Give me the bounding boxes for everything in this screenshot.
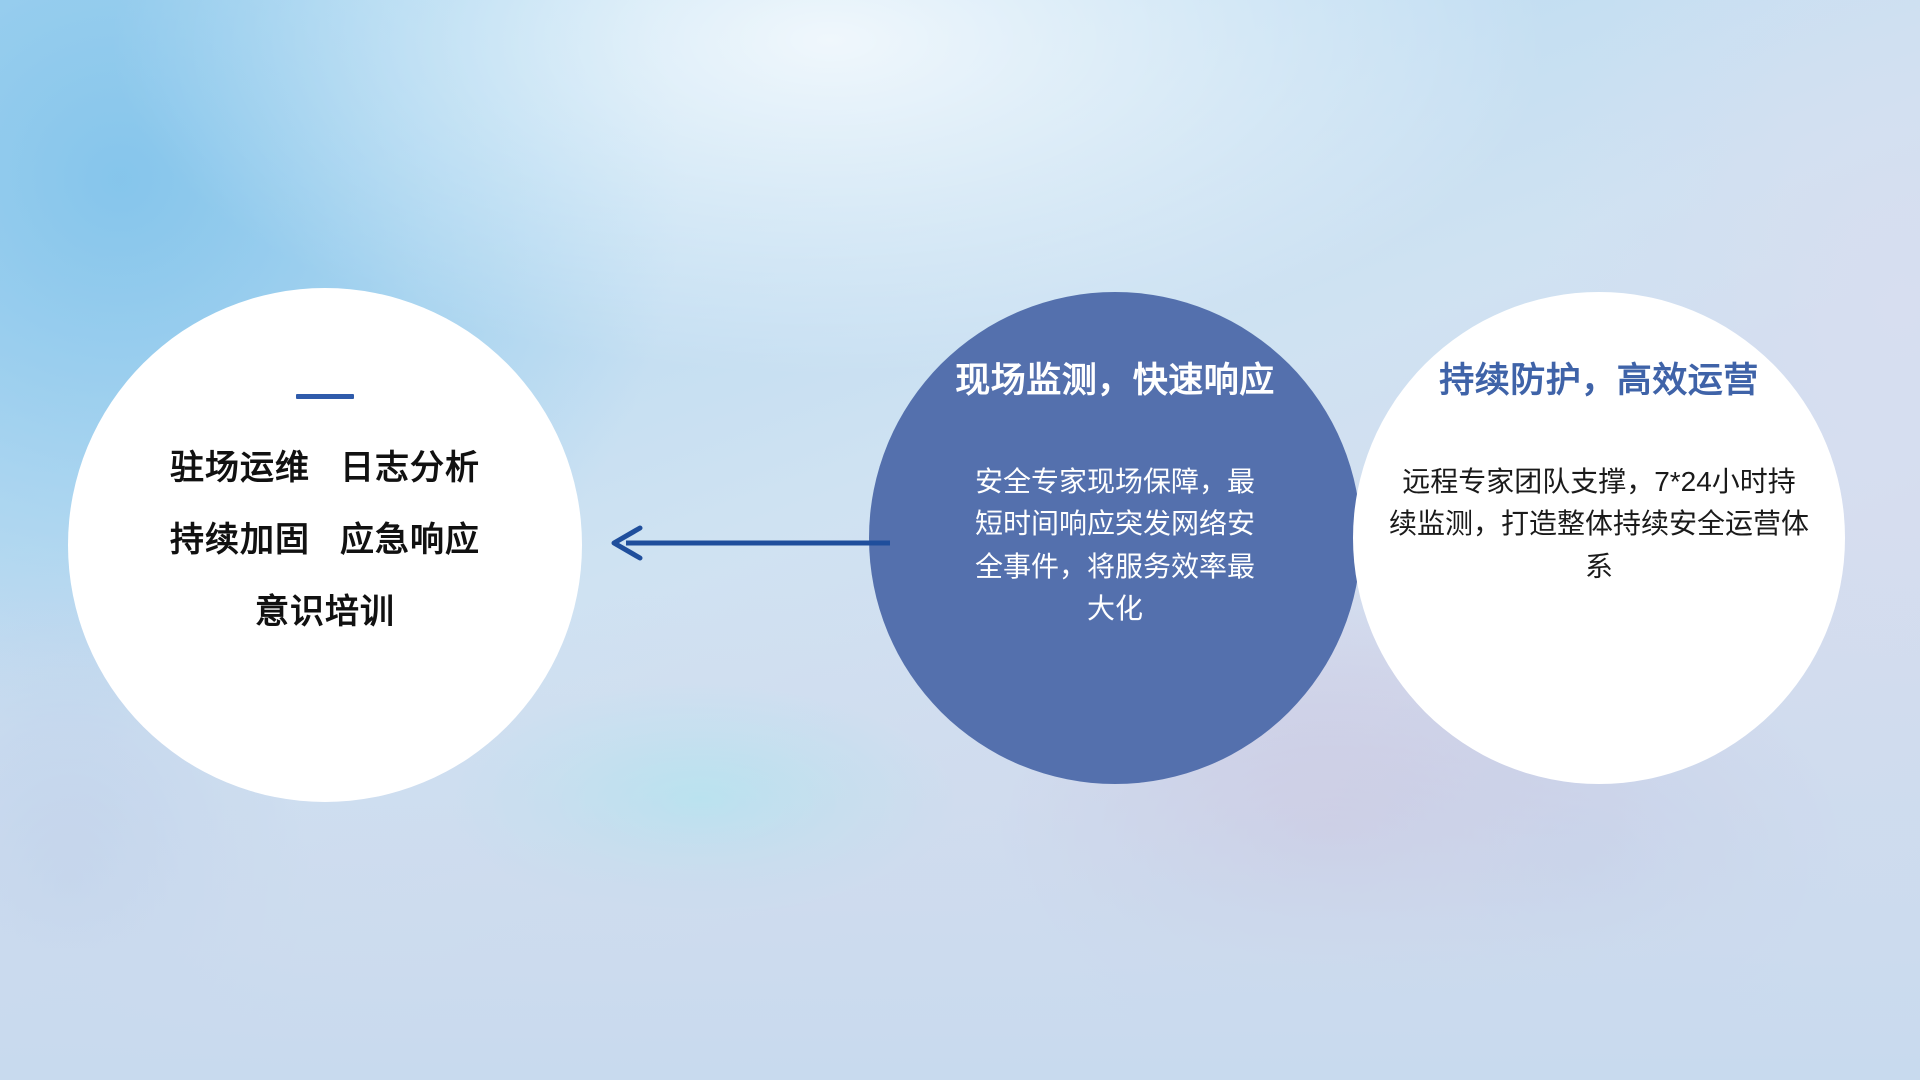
left-circle-content: 驻场运维日志分析 持续加固应急响应 意识培训 bbox=[68, 288, 582, 802]
mid-circle-title: 现场监测，快速响应 bbox=[955, 362, 1275, 401]
left-circle-line-3: 意识培训 bbox=[255, 595, 395, 629]
flow-arrow-left-icon bbox=[600, 512, 900, 574]
left-circle-item-3: 持续加固 bbox=[170, 521, 310, 559]
right-circle-body: 远程专家团队支撑，7*24小时持续监测，打造整体持续安全运营体系 bbox=[1389, 461, 1809, 589]
left-circle-line-1: 驻场运维日志分析 bbox=[170, 451, 480, 485]
mid-circle-content: 现场监测，快速响应 安全专家现场保障，最短时间响应突发网络安全事件，将服务效率最… bbox=[869, 292, 1361, 784]
left-circle-item-5: 意识培训 bbox=[255, 593, 395, 631]
slide-canvas: 驻场运维日志分析 持续加固应急响应 意识培训 现场监测，快速响应 安全专家现场保… bbox=[0, 0, 1920, 1080]
left-circle-item-4: 应急响应 bbox=[340, 521, 480, 559]
mid-circle-body: 安全专家现场保障，最短时间响应突发网络安全事件，将服务效率最大化 bbox=[965, 461, 1265, 631]
left-circle-item-2: 日志分析 bbox=[340, 449, 480, 487]
left-circle-divider bbox=[296, 394, 354, 399]
left-circle-item-1: 驻场运维 bbox=[170, 449, 310, 487]
left-circle-line-2: 持续加固应急响应 bbox=[170, 523, 480, 557]
right-circle-content: 持续防护，高效运营 远程专家团队支撑，7*24小时持续监测，打造整体持续安全运营… bbox=[1353, 292, 1845, 784]
right-circle-title: 持续防护，高效运营 bbox=[1439, 362, 1759, 401]
